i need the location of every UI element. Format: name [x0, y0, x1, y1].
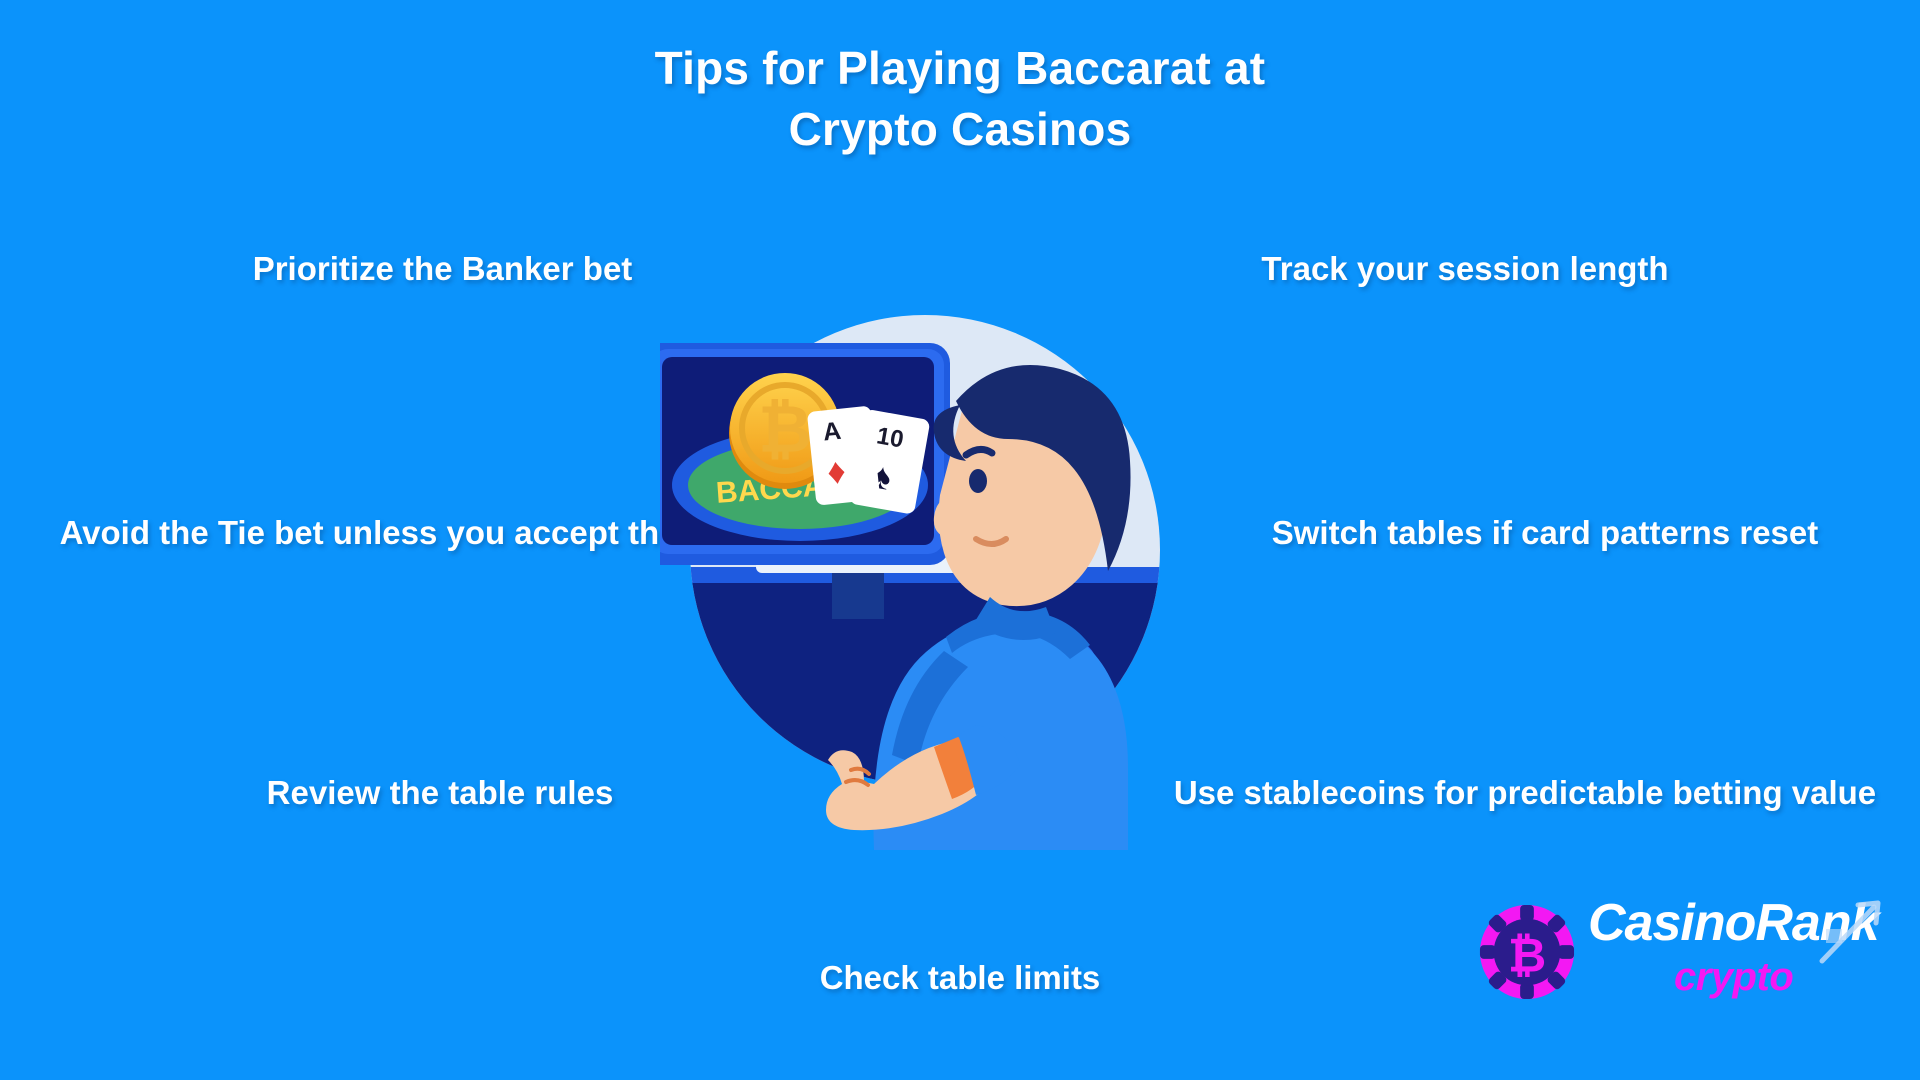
infographic-canvas: Tips for Playing Baccarat at Crypto Casi…: [0, 0, 1920, 1080]
svg-text:₿: ₿: [1508, 929, 1546, 982]
card-left-rank: A: [822, 417, 843, 447]
playing-card-ace-diamonds: A ♦: [807, 406, 880, 506]
casinorank-crypto-logo[interactable]: ₿ CasinoRank crypto: [1478, 895, 1898, 1030]
eye: [969, 469, 987, 493]
page-title: Tips for Playing Baccarat at Crypto Casi…: [0, 38, 1920, 159]
card-right-rank: 10: [875, 422, 906, 453]
growth-arrow-icon: [1808, 889, 1898, 979]
title-line-1: Tips for Playing Baccarat at: [655, 42, 1266, 94]
tip-avoid-tie-bet: Avoid the Tie bet unless you accept the …: [50, 510, 755, 556]
tip-check-table-limits: Check table limits: [600, 955, 1320, 1001]
coin-symbol: ₿: [758, 392, 812, 466]
bitcoin-poker-chip-icon: ₿: [1478, 903, 1576, 1001]
tip-switch-tables: Switch tables if card patterns reset: [1190, 510, 1900, 556]
title-line-2: Crypto Casinos: [0, 99, 1920, 160]
illustration-person-playing-baccarat: BACCARAT ₿ 10 ♠ A ♦: [660, 285, 1260, 875]
logo-sub-label: crypto: [1674, 957, 1793, 997]
